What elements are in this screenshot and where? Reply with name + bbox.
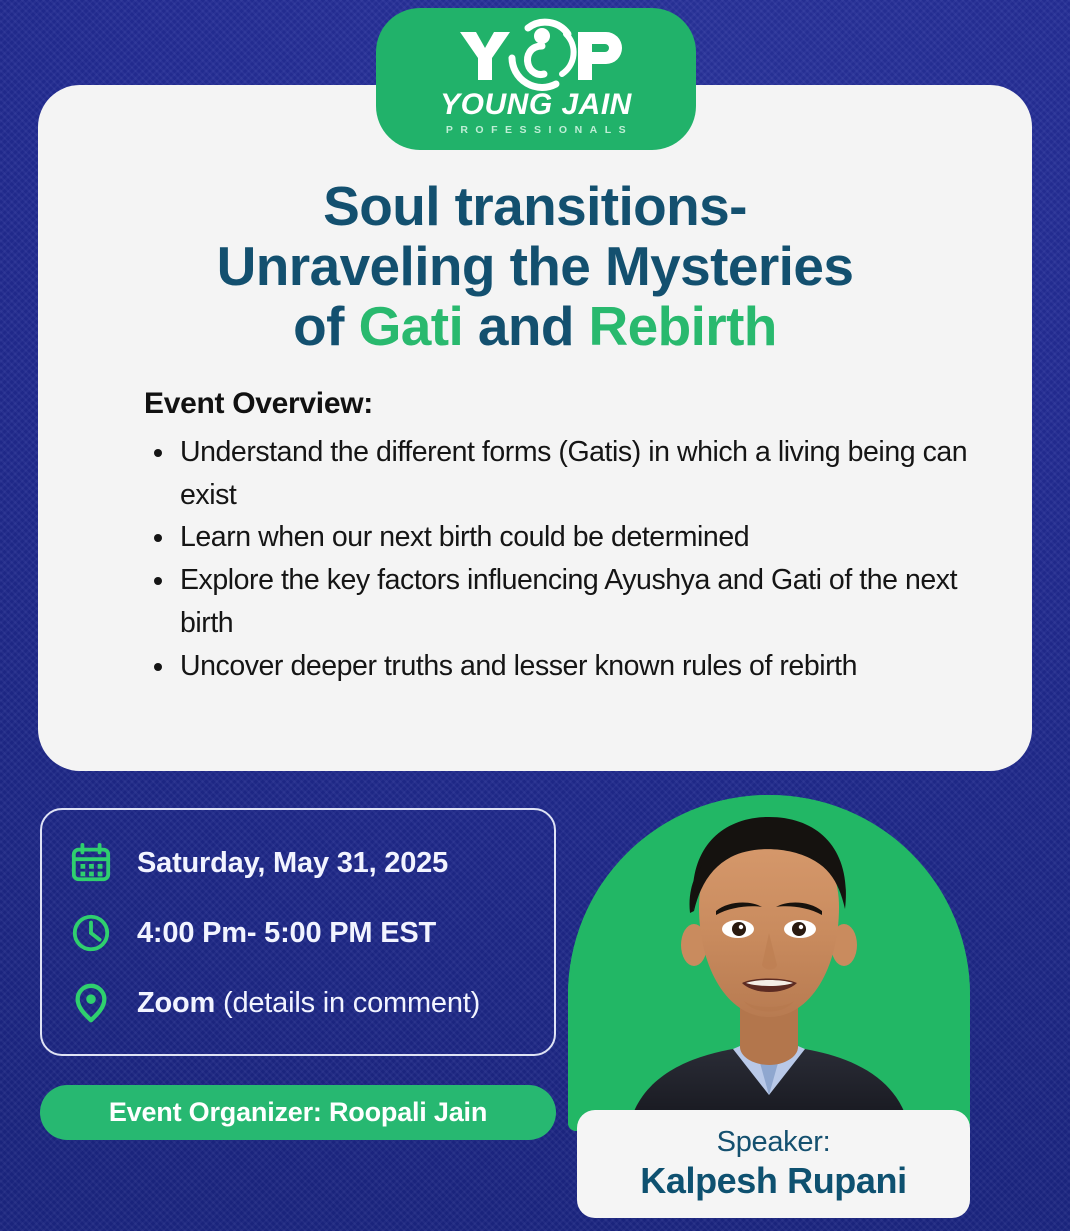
title-line-1: Soul transitions-: [323, 175, 747, 237]
event-details-box: Saturday, May 31, 2025 4:00 Pm- 5:00 PM …: [40, 808, 556, 1056]
calendar-icon: [68, 840, 114, 886]
yp-monogram-icon: [416, 14, 656, 96]
event-flyer: YOUNG JAIN PROFESSIONALS Soul transition…: [0, 0, 1070, 1231]
overview-list: Understand the different forms (Gatis) i…: [64, 431, 1006, 688]
detail-row-time: 4:00 Pm- 5:00 PM EST: [68, 898, 554, 968]
list-item: Explore the key factors influencing Ayus…: [150, 559, 992, 645]
event-location-platform: Zoom: [137, 987, 215, 1019]
content-card: Soul transitions- Unraveling the Mysteri…: [38, 85, 1032, 771]
speaker-name: Kalpesh Rupani: [640, 1161, 906, 1201]
clock-icon: [68, 910, 114, 956]
list-item: Understand the different forms (Gatis) i…: [150, 431, 992, 517]
title-accent-rebirth: Rebirth: [589, 295, 777, 357]
event-date: Saturday, May 31, 2025: [137, 847, 448, 880]
detail-row-location: Zoom (details in comment): [68, 968, 554, 1038]
title-line-2: Unraveling the Mysteries: [217, 235, 854, 297]
title-line-3-middle: and: [463, 295, 588, 357]
event-location: Zoom (details in comment): [137, 987, 480, 1020]
list-item: Learn when our next birth could be deter…: [150, 516, 992, 559]
organizer-badge: Event Organizer: Roopali Jain: [40, 1085, 556, 1140]
event-location-note: (details in comment): [215, 987, 480, 1019]
event-time: 4:00 Pm- 5:00 PM EST: [137, 917, 436, 950]
title-line-3-prefix: of: [293, 295, 358, 357]
overview-heading: Event Overview:: [144, 387, 1006, 421]
speaker-headshot: [568, 795, 970, 1131]
location-pin-icon: [68, 980, 114, 1026]
list-item: Uncover deeper truths and lesser known r…: [150, 645, 992, 688]
speaker-name-card: Speaker: Kalpesh Rupani: [577, 1110, 970, 1218]
title-accent-gati: Gati: [359, 295, 464, 357]
brand-subwordmark: PROFESSIONALS: [439, 125, 633, 136]
detail-row-date: Saturday, May 31, 2025: [68, 828, 554, 898]
brand-logo-badge: YOUNG JAIN PROFESSIONALS: [376, 8, 696, 150]
organizer-label: Event Organizer: Roopali Jain: [109, 1097, 487, 1128]
speaker-photo-frame: [568, 795, 970, 1131]
speaker-label: Speaker:: [717, 1127, 831, 1157]
